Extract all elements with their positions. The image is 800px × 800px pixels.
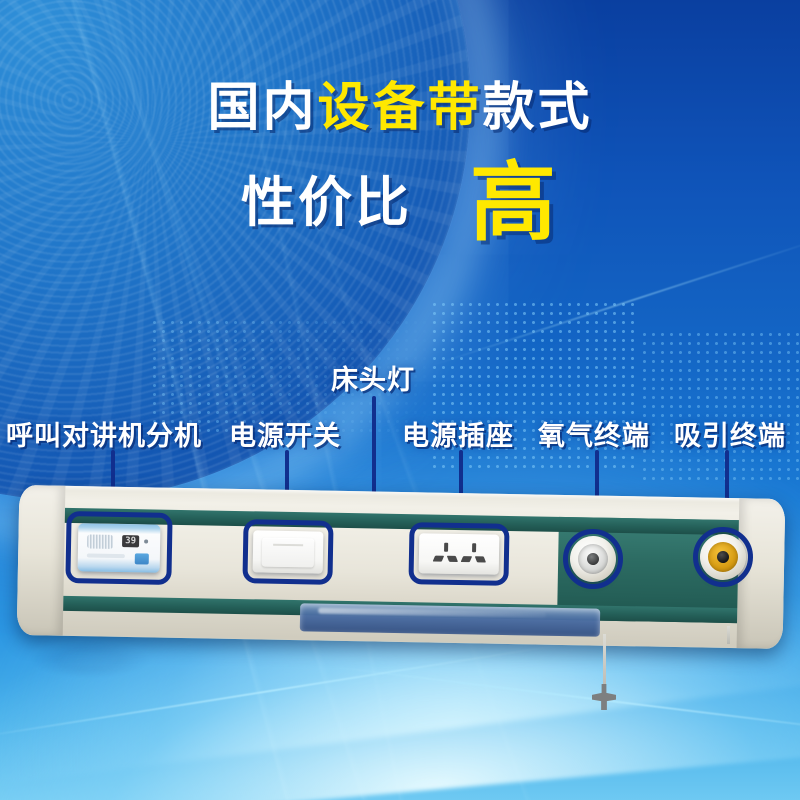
panel-service-rail xyxy=(300,603,600,636)
callout-label-bedside-lamp: 床头灯 xyxy=(331,358,415,397)
headline-block: 国内设备带款式 性价比 高 xyxy=(0,82,800,246)
headline-text-style: 款式 xyxy=(483,79,593,137)
headline-text-high: 高 xyxy=(470,160,559,246)
dot-matrix-right xyxy=(640,330,800,480)
suction-drain-tube xyxy=(727,626,730,644)
headline-text-domestic: 国内 xyxy=(207,79,317,137)
callout-label-power-socket: 电源插座 xyxy=(402,414,514,453)
callout-label-oxygen-terminal: 氧气终端 xyxy=(538,414,650,453)
headline-line-2: 性价比 高 xyxy=(0,160,800,246)
panel-end-cap-left xyxy=(17,485,66,636)
callout-label-power-switch: 电源开关 xyxy=(229,414,341,453)
highlight-box-socket xyxy=(408,522,509,586)
callout-label-nurse-call-intercom: 呼叫对讲机分机 xyxy=(6,414,202,453)
promo-banner: 国内设备带款式 性价比 高 呼叫对讲机分机 电源开关 床头灯 电源插座 氧气终端… xyxy=(0,0,800,800)
headline-text-value-ratio: 性价比 xyxy=(241,176,412,230)
highlight-box-switch xyxy=(242,519,333,585)
callout-label-suction-terminal: 吸引终端 xyxy=(674,414,786,453)
highlight-box-intercom xyxy=(65,511,172,585)
headline-text-equipment-belt: 设备带 xyxy=(317,79,482,137)
headline-line-1: 国内设备带款式 xyxy=(0,82,800,134)
pull-cord xyxy=(603,634,606,692)
